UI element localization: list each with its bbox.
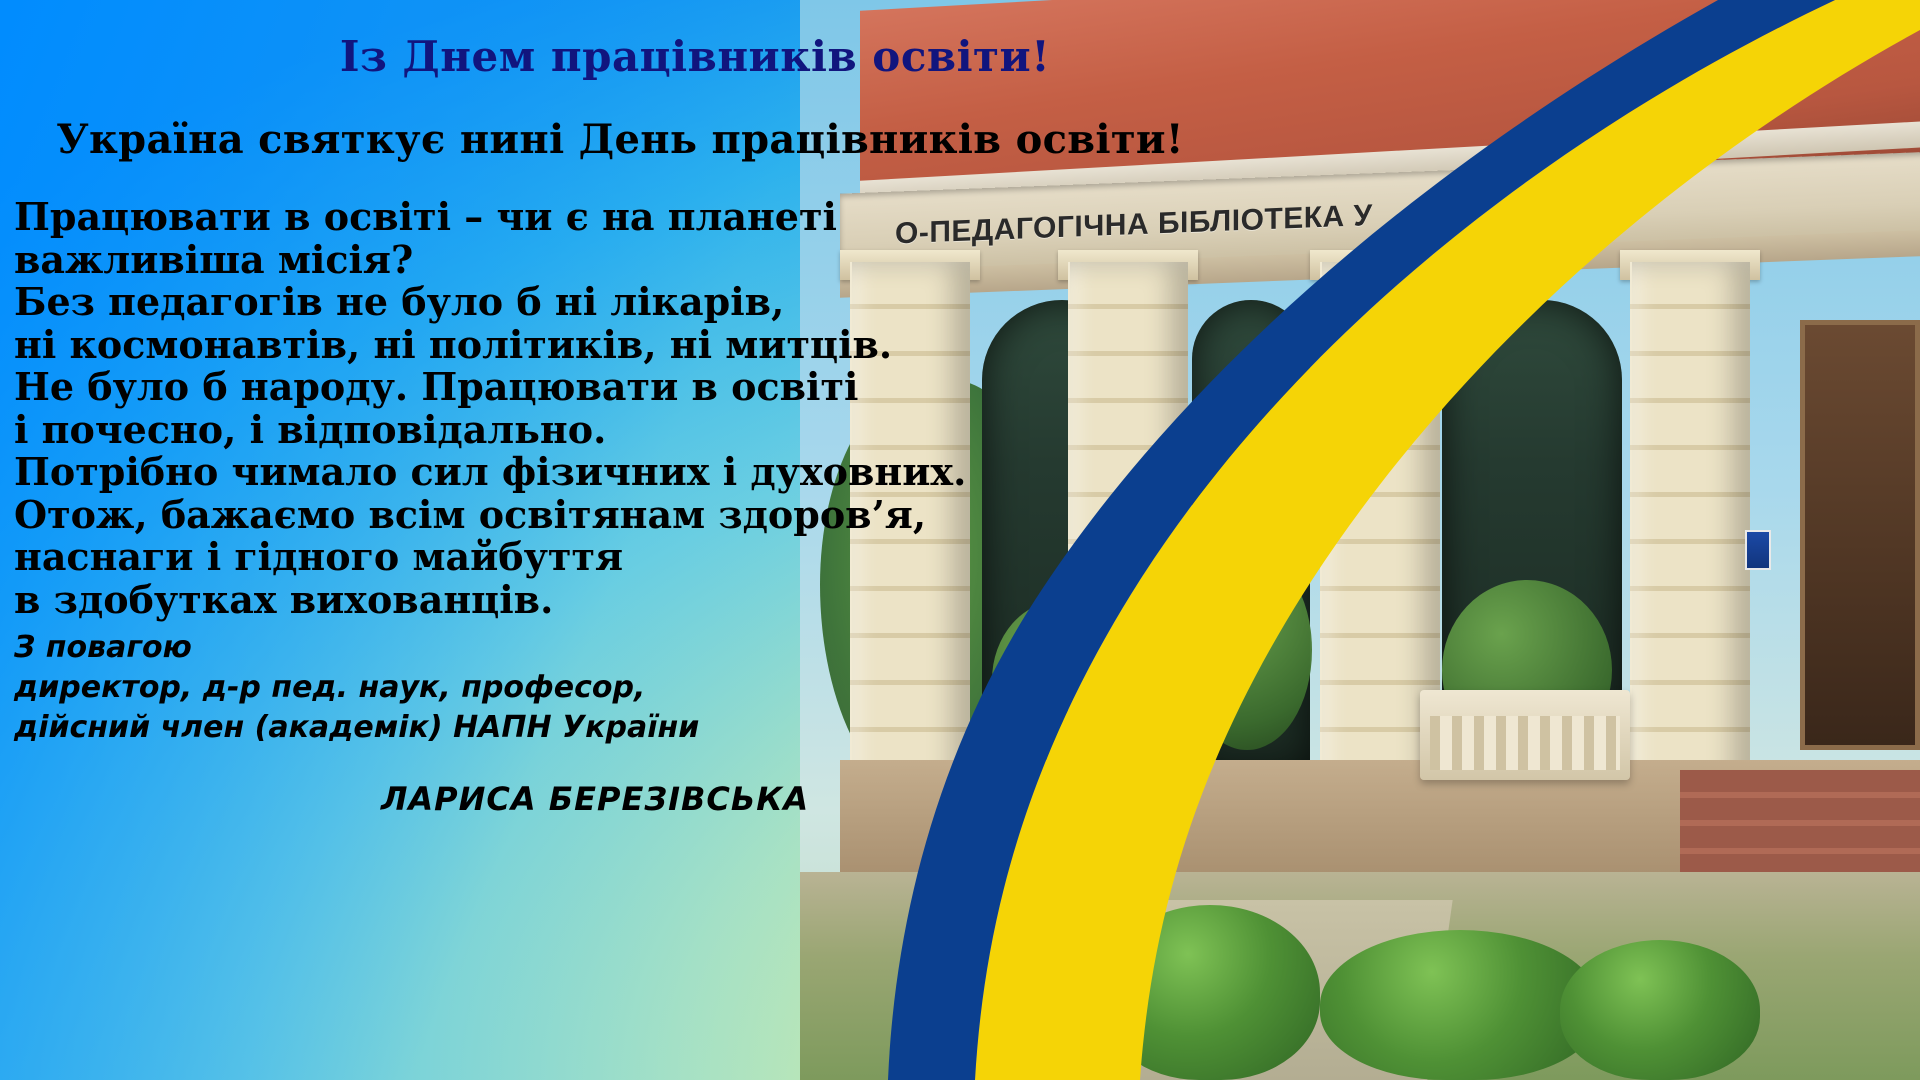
signature-line: директор, д-р пед. наук, професор, <box>14 668 914 708</box>
signature-line: З повагою <box>14 628 914 668</box>
body-line: Отож, бажаємо всім освітянам здоров’я, <box>14 494 1014 537</box>
page-title: Із Днем працівників освіти! <box>0 32 1390 81</box>
author-name: ЛАРИСА БЕРЕЗІВСЬКА <box>0 780 1190 818</box>
body-line: важливіша місія? <box>14 239 1014 282</box>
poster-text-layer: Із Днем працівників освіти! Україна свят… <box>0 0 1920 1080</box>
body-line: Без педагогів не було б ні лікарів, <box>14 281 1014 324</box>
body-line: Не було б народу. Працювати в освіті <box>14 366 1014 409</box>
signature-line: дійсний член (академік) НАПН України <box>14 708 914 748</box>
body-line: Потрібно чимало сил фізичних і духовних. <box>14 451 1014 494</box>
body-line: в здобутках вихованців. <box>14 579 1014 622</box>
body-line: ні космонавтів, ні політиків, ні митців. <box>14 324 1014 367</box>
signature-block: З повагою директор, д-р пед. наук, профе… <box>14 628 914 748</box>
body-line: наснаги і гідного майбуття <box>14 536 1014 579</box>
body-line: Працювати в освіті – чи є на планеті <box>14 196 1014 239</box>
body-text: Працювати в освіті – чи є на планеті важ… <box>14 196 1014 621</box>
subtitle: Україна святкує нині День працівників ос… <box>0 116 1240 163</box>
body-line: і почесно, і відповідально. <box>14 409 1014 452</box>
